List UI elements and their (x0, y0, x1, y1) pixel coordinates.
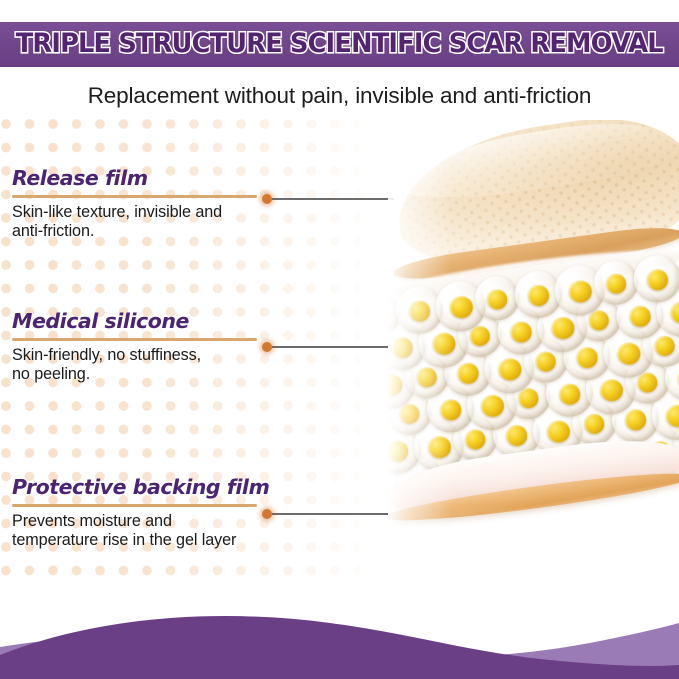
feature-description: Skin-like texture, invisible and anti-fr… (12, 203, 278, 241)
feature-description: Prevents moisture and temperature rise i… (12, 512, 278, 550)
feature-underline (12, 195, 257, 198)
feature-description: Skin-friendly, no stuffiness, no peeling… (12, 346, 278, 384)
wave-svg (0, 569, 679, 679)
connector-line (272, 513, 394, 515)
connector-line-protective-backing-film (262, 508, 394, 520)
infographic-page: TRIPLE STRUCTURE SCIENTIFIC SCAR REMOVAL… (0, 0, 679, 679)
header-band: TRIPLE STRUCTURE SCIENTIFIC SCAR REMOVAL (0, 22, 679, 67)
product-layer-illustration (388, 120, 679, 590)
feature-title: Protective backing film (12, 477, 278, 499)
feature-underline (12, 504, 257, 507)
feature-block-release-film: Release film Skin-like texture, invisibl… (12, 168, 278, 241)
feature-title: Release film (12, 168, 278, 190)
connector-line (272, 346, 394, 348)
connector-line-release-film (262, 193, 394, 205)
connector-line (272, 198, 394, 200)
feature-block-medical-silicone: Medical silicone Skin-friendly, no stuff… (12, 311, 278, 384)
feature-title: Medical silicone (12, 311, 278, 333)
feature-block-protective-backing-film: Protective backing film Prevents moistur… (12, 477, 278, 550)
connector-line-medical-silicone (262, 341, 394, 353)
bottom-wave-decoration (0, 569, 679, 679)
feature-underline (12, 338, 257, 341)
page-title: TRIPLE STRUCTURE SCIENTIFIC SCAR REMOVAL (16, 31, 663, 58)
subtitle: Replacement without pain, invisible and … (0, 83, 679, 109)
